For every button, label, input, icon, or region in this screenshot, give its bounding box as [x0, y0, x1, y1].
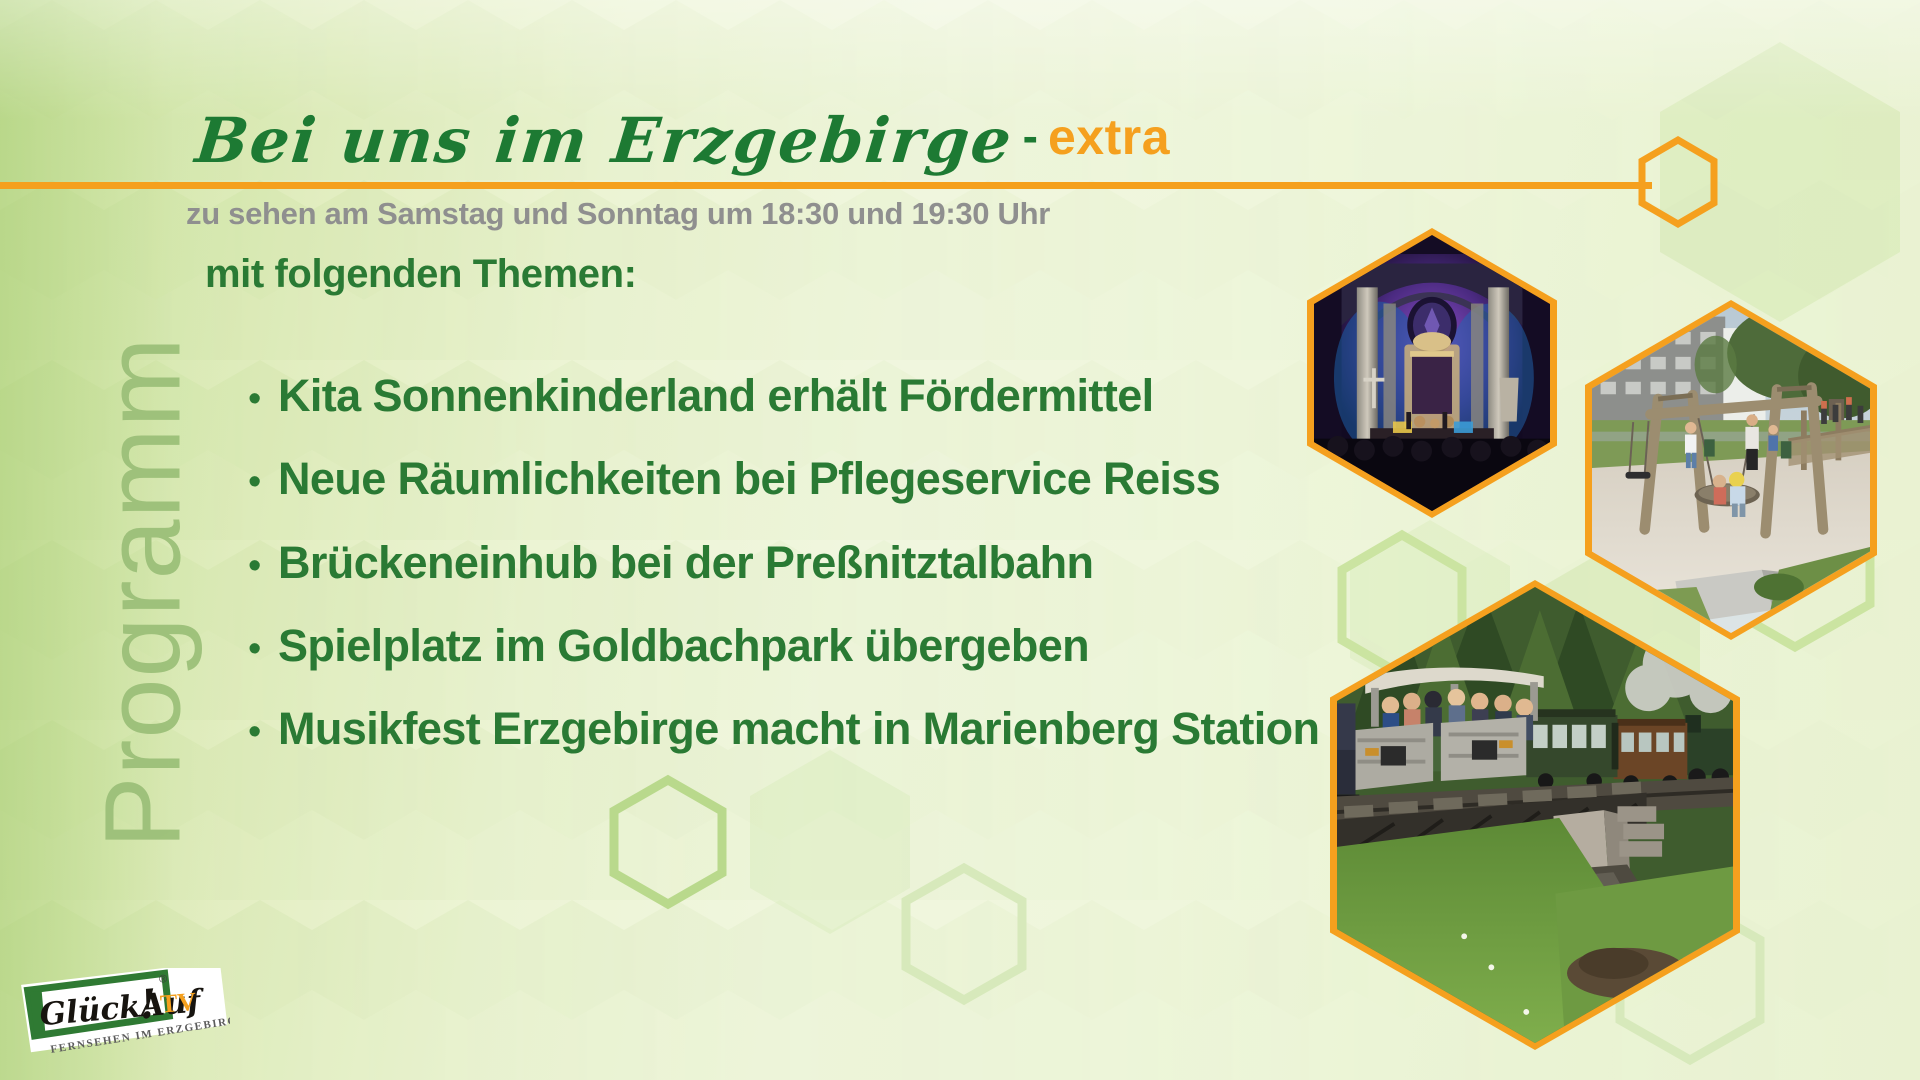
list-item-label: Musikfest Erzgebirge macht in Marienberg… — [278, 705, 1319, 752]
svg-text:TV: TV — [159, 987, 198, 1019]
bullet-dot-icon: • — [248, 630, 278, 668]
airtime-subtitle: zu sehen am Samstag und Sonntag um 18:30… — [186, 196, 1050, 232]
list-item-label: Neue Räumlichkeiten bei Pflegeservice Re… — [278, 455, 1220, 502]
page-title-script: Bei uns im Erzgebirge — [192, 104, 1016, 177]
list-item: • Kita Sonnenkinderland erhält Fördermit… — [248, 372, 1308, 419]
page-title: Bei uns im Erzgebirge-extra — [196, 104, 1170, 177]
station-logo[interactable]: GlückAuf ! TV ® FERNSEHEN IM ERZGEBIRGE — [18, 968, 230, 1060]
broadcast-program-slide: Bei uns im Erzgebirge-extra zu sehen am … — [0, 0, 1920, 1080]
list-item: • Brückeneinhub bei der Preßnitztalbahn — [248, 539, 1308, 586]
sidebar-vertical-label: Programm — [80, 273, 205, 913]
list-item: • Musikfest Erzgebirge macht in Marienbe… — [248, 705, 1308, 752]
bullet-dot-icon: • — [248, 713, 278, 751]
list-item: • Neue Räumlichkeiten bei Pflegeservice … — [248, 455, 1308, 502]
page-title-dash: - — [1013, 109, 1048, 163]
list-item-label: Kita Sonnenkinderland erhält Fördermitte… — [278, 372, 1154, 419]
page-title-extra: extra — [1048, 108, 1170, 166]
topics-intro-label: mit folgenden Themen: — [205, 252, 637, 297]
topics-list: • Kita Sonnenkinderland erhält Fördermit… — [248, 372, 1308, 788]
bullet-dot-icon: • — [248, 463, 278, 501]
list-item: • Spielplatz im Goldbachpark übergeben — [248, 622, 1308, 669]
church-concert-photo-image — [1314, 235, 1550, 511]
bullet-dot-icon: • — [248, 380, 278, 418]
list-item-label: Spielplatz im Goldbachpark übergeben — [278, 622, 1089, 669]
list-item-label: Brückeneinhub bei der Preßnitztalbahn — [278, 539, 1093, 586]
top-fade — [0, 0, 1920, 120]
orange-divider-rule — [0, 182, 1652, 189]
svg-text:®: ® — [159, 973, 168, 986]
bullet-dot-icon: • — [248, 547, 278, 585]
